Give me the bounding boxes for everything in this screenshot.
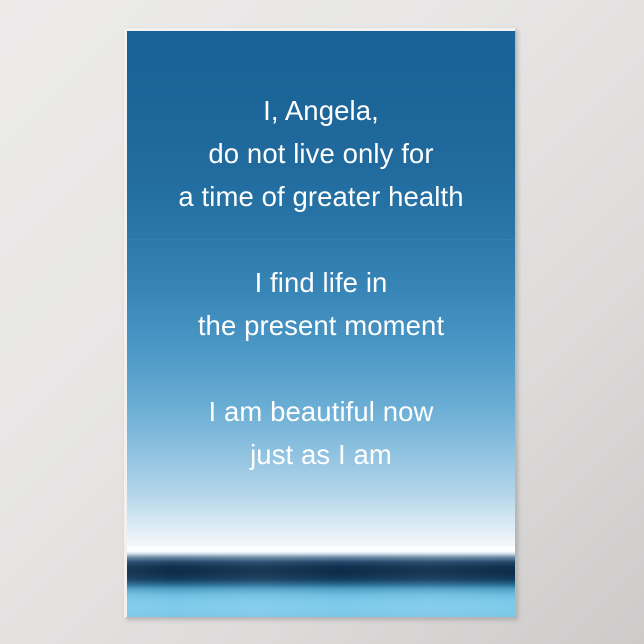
verse-line: I, Angela, bbox=[127, 89, 515, 132]
poster-product-image[interactable]: I, Angela, do not live only for a time o… bbox=[124, 28, 516, 618]
verse-stanza: I find life in the present moment bbox=[127, 261, 515, 347]
verse-stanza: I, Angela, do not live only for a time o… bbox=[127, 89, 515, 218]
poster-verse-text: I, Angela, do not live only for a time o… bbox=[127, 89, 515, 476]
verse-stanza: I am beautiful now just as I am bbox=[127, 390, 515, 476]
verse-line: a time of greater health bbox=[127, 175, 515, 218]
verse-line: just as I am bbox=[127, 433, 515, 476]
verse-line: I am beautiful now bbox=[127, 390, 515, 433]
verse-line: do not live only for bbox=[127, 132, 515, 175]
verse-line: I find life in bbox=[127, 261, 515, 304]
product-scene: I, Angela, do not live only for a time o… bbox=[0, 0, 644, 644]
verse-line: the present moment bbox=[127, 304, 515, 347]
